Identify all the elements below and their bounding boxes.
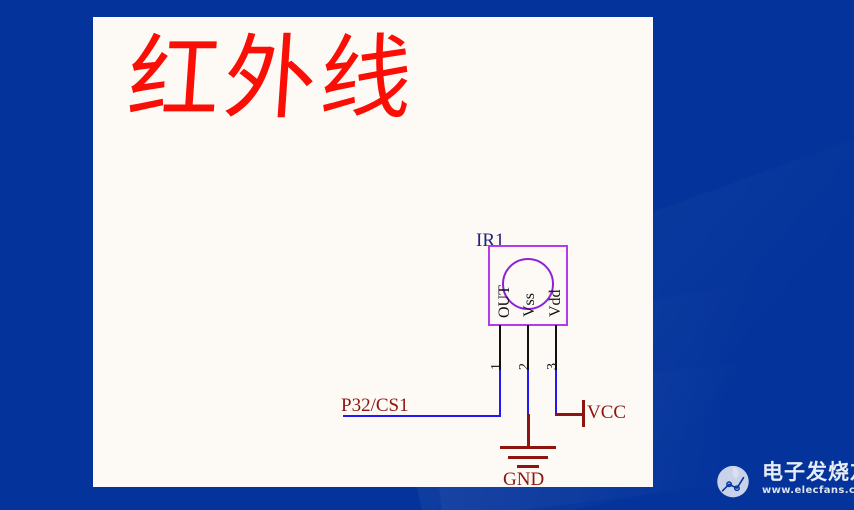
site-watermark: 电子发烧友 www.elecfans.com	[712, 458, 854, 500]
pin-label-vdd: Vdd	[547, 289, 565, 317]
pin-number-2: 2	[517, 363, 533, 370]
slide-canvas: 红外线 IR1 OUT Vss Vdd 1 2 3	[0, 0, 854, 510]
net-label-supply: VCC	[587, 402, 626, 424]
ground-bar-3	[517, 465, 539, 468]
net-label-ground: GND	[503, 469, 544, 491]
watermark-text-block: 电子发烧友 www.elecfans.com	[762, 462, 854, 496]
watermark-url: www.elecfans.com	[762, 486, 854, 496]
slide-content-panel: 红外线 IR1 OUT Vss Vdd 1 2 3	[93, 17, 653, 487]
ground-bar-1	[500, 446, 556, 449]
elecfans-logo-icon	[712, 458, 754, 500]
ground-stem	[527, 414, 530, 447]
pin-label-vss: Vss	[521, 293, 539, 317]
net-label-signal: P32/CS1	[341, 395, 409, 417]
pin-number-1: 1	[489, 363, 505, 370]
supply-bar	[582, 400, 585, 427]
wire-pin3-vertical	[555, 370, 557, 414]
wire-pin1-vertical	[499, 370, 501, 417]
wire-pin2-vertical	[527, 370, 529, 415]
pin-label-out: OUT	[496, 285, 514, 318]
watermark-brand: 电子发烧友	[762, 462, 854, 483]
ground-bar-2	[508, 456, 548, 459]
schematic-diagram: IR1 OUT Vss Vdd 1 2 3	[93, 17, 653, 487]
pin-number-3: 3	[545, 363, 561, 370]
supply-wire	[555, 413, 583, 416]
